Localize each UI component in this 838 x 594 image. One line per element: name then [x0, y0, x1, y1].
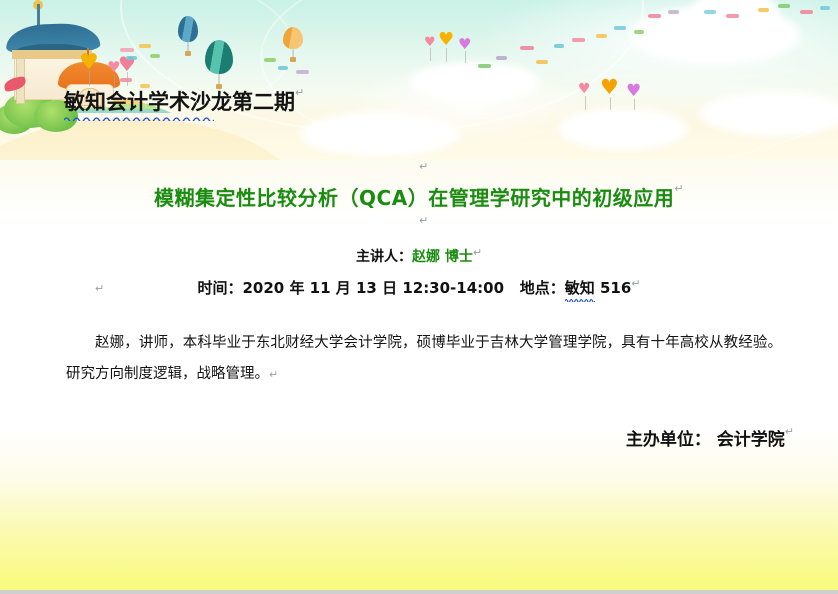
cloud-shape: [410, 62, 540, 102]
confetti-speck: [496, 56, 507, 60]
confetti-speck: [778, 4, 790, 8]
confetti-speck: [726, 14, 739, 18]
speaker-biography-text: 赵娜，讲师，本科毕业于东北财经大学会计学院，硕博毕业于吉林大学管理学院，具有十年…: [66, 335, 782, 382]
pilcrow-mark: ↵: [419, 160, 428, 173]
confetti-speck: [264, 58, 276, 62]
time-label: 时间：: [197, 279, 242, 297]
pilcrow-mark: ↵: [269, 368, 278, 381]
window-bottom-edge: [0, 590, 838, 594]
place-label: 地点：: [520, 279, 565, 297]
document-page: ♥ ♥ ♥ ♥ ♥ ♥ ♥ ♥ ♥: [0, 0, 838, 594]
confetti-speck: [139, 44, 151, 48]
organizer-label: 主办单位：: [626, 430, 711, 450]
confetti-speck: [572, 38, 585, 42]
confetti-speck: [668, 10, 679, 14]
wavy-underline-icon: [64, 116, 214, 121]
confetti-speck: [278, 66, 288, 70]
confetti-speck: [614, 26, 626, 30]
place-number: 516: [595, 279, 632, 297]
confetti-speck: [596, 34, 607, 38]
confetti-speck: [704, 10, 716, 14]
place-value-wavy: 敏知: [565, 277, 595, 298]
organizer-line: 主办单位： 会计学院↵: [0, 425, 794, 450]
confetti-speck: [126, 56, 137, 60]
speaker-label: 主讲人：: [356, 249, 412, 265]
cloud-shape: [558, 108, 688, 150]
pilcrow-mark: ↵: [473, 246, 482, 259]
confetti-speck: [150, 54, 160, 58]
hot-air-balloon-icon: [178, 16, 198, 42]
banner-headline-text: 敏知会计学术沙龙第二期: [64, 90, 295, 114]
confetti-speck: [758, 8, 769, 12]
confetti-speck: [800, 10, 813, 14]
pavilion-spire: [37, 4, 40, 26]
speaker-line: 主讲人：赵娜 博士↵: [0, 246, 838, 266]
cloud-shape: [700, 92, 838, 136]
presentation-title-text: 模糊集定性比较分析（QCA）在管理学研究中的初级应用: [154, 186, 674, 210]
time-value: 2020 年 11 月 13 日 12:30-14:00: [242, 279, 504, 297]
confetti-speck: [554, 44, 564, 48]
organizer-value: 会计学院: [711, 430, 785, 450]
presentation-title: 模糊集定性比较分析（QCA）在管理学研究中的初级应用↵: [0, 182, 838, 211]
cloud-shape: [300, 112, 460, 156]
speaker-name: 赵娜 博士: [412, 249, 473, 265]
hot-air-balloon-icon: [205, 40, 233, 74]
confetti-speck: [296, 70, 309, 74]
speaker-biography-paragraph: 赵娜，讲师，本科毕业于东北财经大学会计学院，硕博毕业于吉林大学管理学院，具有十年…: [66, 328, 782, 390]
pilcrow-mark: ↵: [631, 277, 640, 290]
confetti-speck: [520, 46, 534, 50]
header-banner-illustration: ♥ ♥ ♥ ♥ ♥ ♥ ♥ ♥ ♥: [0, 0, 838, 160]
confetti-speck: [478, 64, 491, 68]
pilcrow-mark: ↵: [419, 214, 428, 227]
confetti-speck: [536, 60, 548, 64]
confetti-speck: [120, 78, 132, 82]
confetti-speck: [648, 14, 661, 18]
hot-air-balloon-icon: [283, 27, 303, 49]
banner-headline: 敏知会计学术沙龙第二期↵: [64, 86, 304, 116]
confetti-speck: [820, 6, 830, 10]
place-value-text: 敏知: [565, 279, 595, 297]
wavy-underline-icon: [565, 298, 595, 302]
pilcrow-mark: ↵: [674, 182, 684, 195]
confetti-speck: [634, 30, 644, 34]
pilcrow-mark: ↵: [785, 425, 794, 438]
confetti-speck: [120, 48, 134, 52]
time-and-place-line: 时间：2020 年 11 月 13 日 12:30-14:00 地点：敏知 51…: [0, 277, 838, 298]
document-body: ↵ 模糊集定性比较分析（QCA）在管理学研究中的初级应用↵ ↵ 主讲人：赵娜 博…: [0, 160, 838, 594]
pilcrow-mark: ↵: [95, 282, 104, 295]
pilcrow-mark: ↵: [295, 86, 304, 99]
